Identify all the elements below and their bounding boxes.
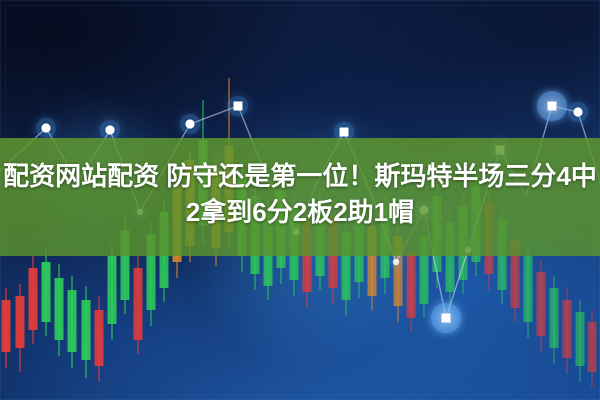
banner-image: 配资网站配资 防守还是第一位！斯玛特半场三分4中 2拿到6分2板2助1帽 [0, 0, 600, 400]
headline-line-1: 配资网站配资 防守还是第一位！斯玛特半场三分4中 [0, 160, 600, 193]
headline-line-2: 2拿到6分2板2助1帽 [0, 196, 600, 229]
